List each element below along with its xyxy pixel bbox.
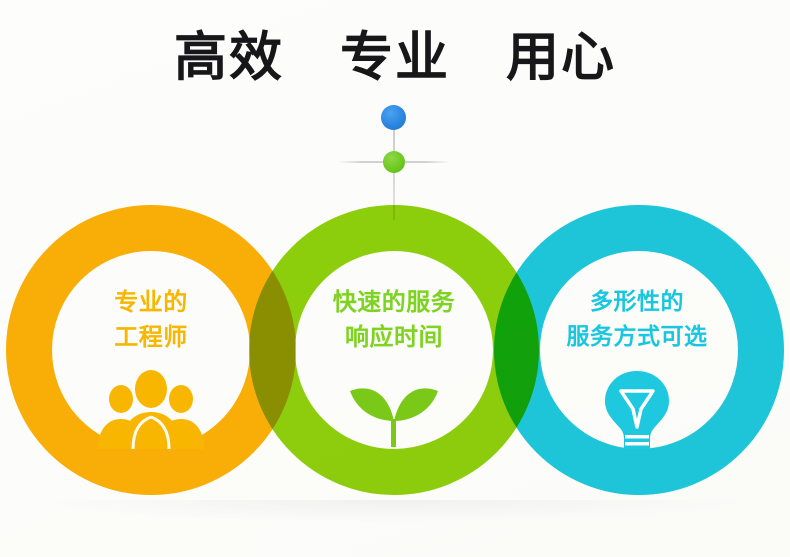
circle-label-line2: 响应时间 <box>295 320 493 355</box>
circle-label-engineers: 专业的 工程师 <box>52 285 250 355</box>
circle-label-response-time: 快速的服务 响应时间 <box>295 285 493 355</box>
circle-label-line1: 专业的 <box>52 285 250 320</box>
lightbulb-icon <box>535 369 739 455</box>
circle-label-line2: 工程师 <box>52 320 250 355</box>
circle-card-engineers[interactable]: 专业的 工程师 <box>52 251 250 449</box>
circle-card-service-options[interactable]: 多形性的 服务方式可选 <box>535 251 739 449</box>
circle-label-line1: 快速的服务 <box>295 285 493 320</box>
circle-label-line2: 服务方式可选 <box>535 320 739 355</box>
circle-label-line1: 多形性的 <box>535 285 739 320</box>
sprout-leaf-icon <box>295 369 493 455</box>
circle-card-response-time[interactable]: 快速的服务 响应时间 <box>295 251 493 449</box>
infographic-canvas: 高效专业用心 专业的 工程师 <box>0 0 790 557</box>
team-people-icon <box>52 369 250 455</box>
circle-label-service-options: 多形性的 服务方式可选 <box>535 285 739 355</box>
